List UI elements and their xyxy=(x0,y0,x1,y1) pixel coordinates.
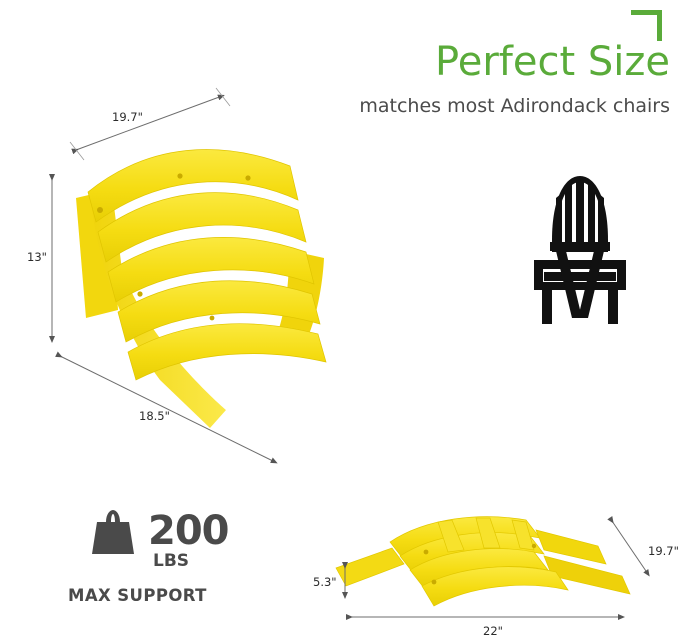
folded-dimension-width: 22" xyxy=(483,624,503,638)
infographic-canvas: Perfect Size matches most Adirondack cha… xyxy=(0,0,679,641)
folded-dimension-lines xyxy=(0,0,679,641)
folded-dimension-height: 5.3" xyxy=(313,575,337,589)
folded-dimension-length: 19.7" xyxy=(648,544,679,558)
